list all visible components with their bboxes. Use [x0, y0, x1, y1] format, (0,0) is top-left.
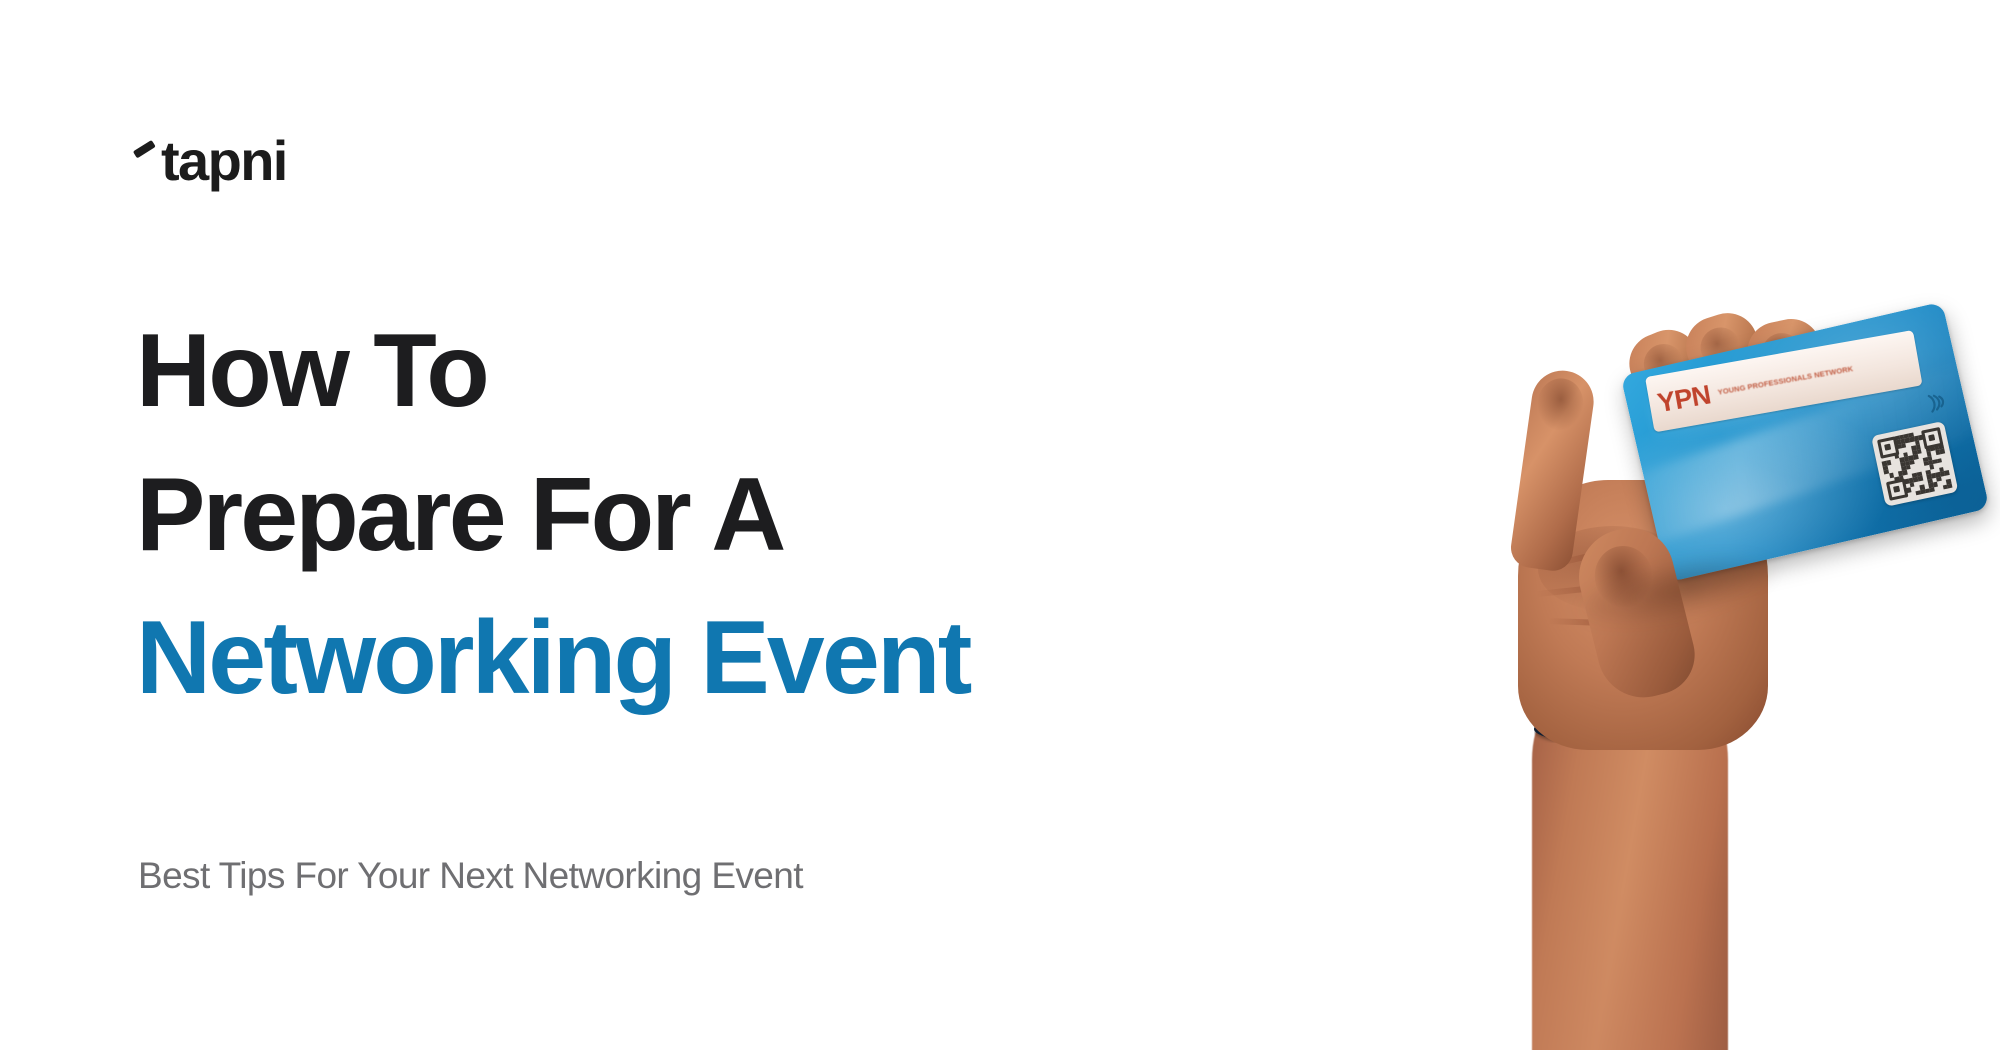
- headline-line-2: Prepare For A: [136, 444, 1276, 588]
- tapni-tick-mark-icon: [134, 141, 160, 187]
- page-title: How To Prepare For A Networking Event: [136, 300, 1276, 731]
- logo-wordmark: tapni: [161, 134, 287, 187]
- hand-holding-card-illustration: YPN YOUNG PROFESSIONALS NETWORK: [1240, 0, 2000, 1050]
- card-brand-mark: YPN: [1655, 381, 1712, 417]
- headline-line-3: Networking Event: [136, 587, 1276, 731]
- hero-photo: YPN YOUNG PROFESSIONALS NETWORK: [1240, 0, 2000, 1050]
- qr-code[interactable]: [1871, 421, 1958, 507]
- hero-banner: tapni How To Prepare For A Networking Ev…: [0, 0, 2000, 1050]
- page-subtitle: Best Tips For Your Next Networking Event: [138, 855, 803, 897]
- headline-line-1: How To: [136, 300, 1276, 444]
- card-brand-subtext: YOUNG PROFESSIONALS NETWORK: [1717, 365, 1854, 398]
- tapni-logo[interactable]: tapni: [134, 125, 287, 187]
